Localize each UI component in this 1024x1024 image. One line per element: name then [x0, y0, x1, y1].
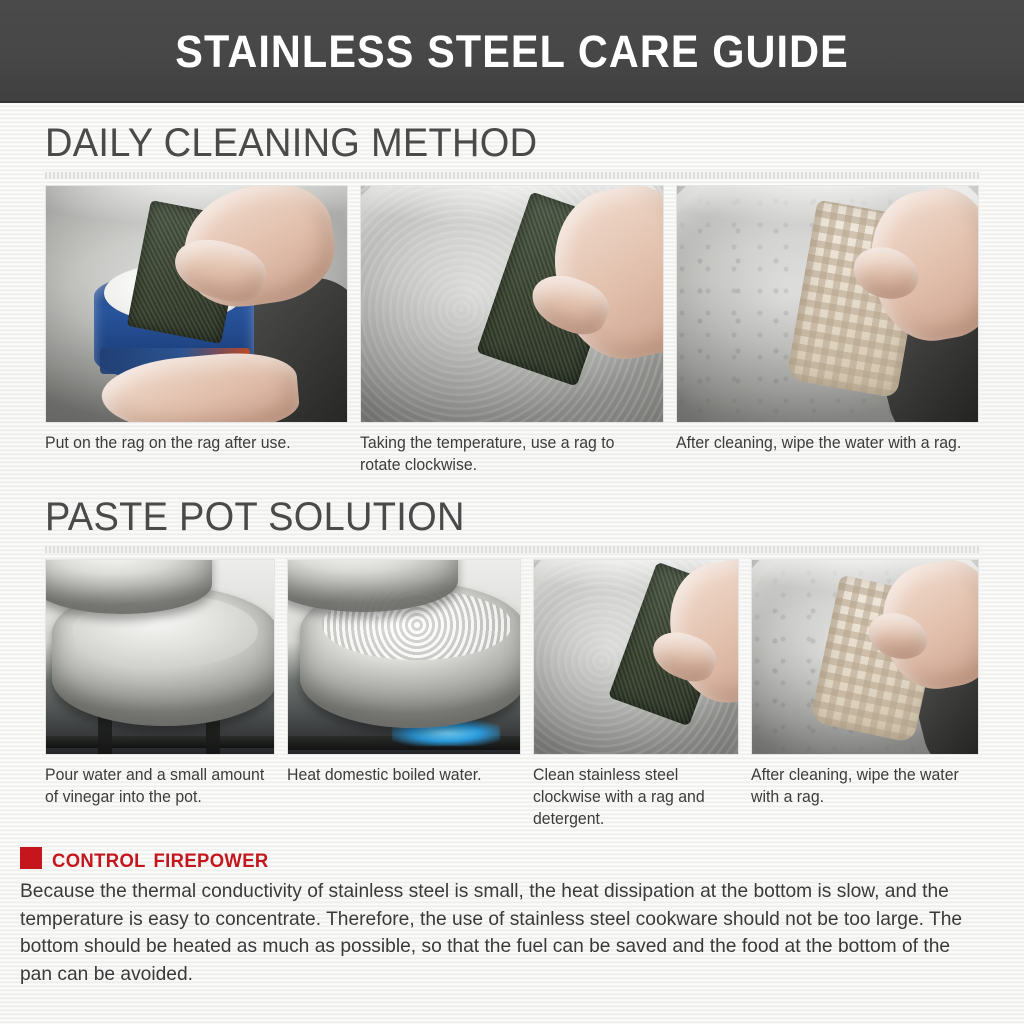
photo-hand-scrubbing-pot-with-green-pad [360, 185, 663, 423]
step-caption: Pour water and a small amount of vinegar… [45, 755, 266, 809]
note-title: Control Firepower [52, 843, 269, 874]
photo-row-daily-cleaning: Put on the rag on the rag after use. Tak… [45, 185, 979, 477]
photo-hand-drying-pot-with-checkered-towel [751, 559, 979, 755]
section-heading-paste-pot-solution: PASTE POT SOLUTION [45, 477, 932, 546]
note-heading: Control Firepower [20, 843, 1002, 874]
step-card: After cleaning, wipe the water with a ra… [676, 185, 979, 477]
section-paste-pot-solution: PASTE POT SOLUTION Pour water and a smal… [0, 477, 1024, 831]
photo-hand-holding-paste-tub-with-green-pad [45, 185, 348, 423]
photo-hand-drying-pot-with-checkered-towel [676, 185, 979, 423]
step-card: Taking the temperature, use a rag to rot… [360, 185, 663, 477]
page-header: STAINLESS STEEL CARE GUIDE [0, 0, 1024, 103]
step-caption: Heat domestic boiled water. [287, 755, 511, 787]
note-body: Because the thermal conductivity of stai… [20, 878, 987, 990]
page-title: STAINLESS STEEL CARE GUIDE [175, 26, 849, 78]
step-card: Put on the rag on the rag after use. [45, 185, 348, 477]
red-square-bullet-icon [20, 847, 42, 869]
step-card: Clean stainless steel clockwise with a r… [533, 559, 739, 831]
section-heading-daily-cleaning: DAILY CLEANING METHOD [45, 103, 932, 172]
photo-wok-with-water-on-gas-stove [45, 559, 275, 755]
section-divider [45, 172, 979, 179]
photo-wok-boiling-water-blue-flame [287, 559, 521, 755]
step-caption: After cleaning, wipe the water with a ra… [676, 423, 967, 455]
section-divider [45, 546, 979, 553]
section-daily-cleaning: DAILY CLEANING METHOD Put on the rag o [0, 103, 1024, 477]
step-caption: Put on the rag on the rag after use. [45, 423, 336, 455]
photo-row-paste-pot-solution: Pour water and a small amount of vinegar… [45, 559, 979, 831]
stove-grate [45, 736, 275, 748]
care-guide-page: STAINLESS STEEL CARE GUIDE DAILY CLEANIN… [0, 0, 1024, 1024]
control-firepower-note: Control Firepower Because the thermal co… [0, 831, 1024, 990]
photo-hand-scrubbing-pot-with-green-pad [533, 559, 739, 755]
step-caption: Taking the temperature, use a rag to rot… [360, 423, 651, 477]
step-caption: After cleaning, wipe the water with a ra… [751, 755, 970, 809]
step-card: Heat domestic boiled water. [287, 559, 521, 831]
step-caption: Clean stainless steel clockwise with a r… [533, 755, 731, 831]
step-card: Pour water and a small amount of vinegar… [45, 559, 275, 831]
step-card: After cleaning, wipe the water with a ra… [751, 559, 979, 831]
